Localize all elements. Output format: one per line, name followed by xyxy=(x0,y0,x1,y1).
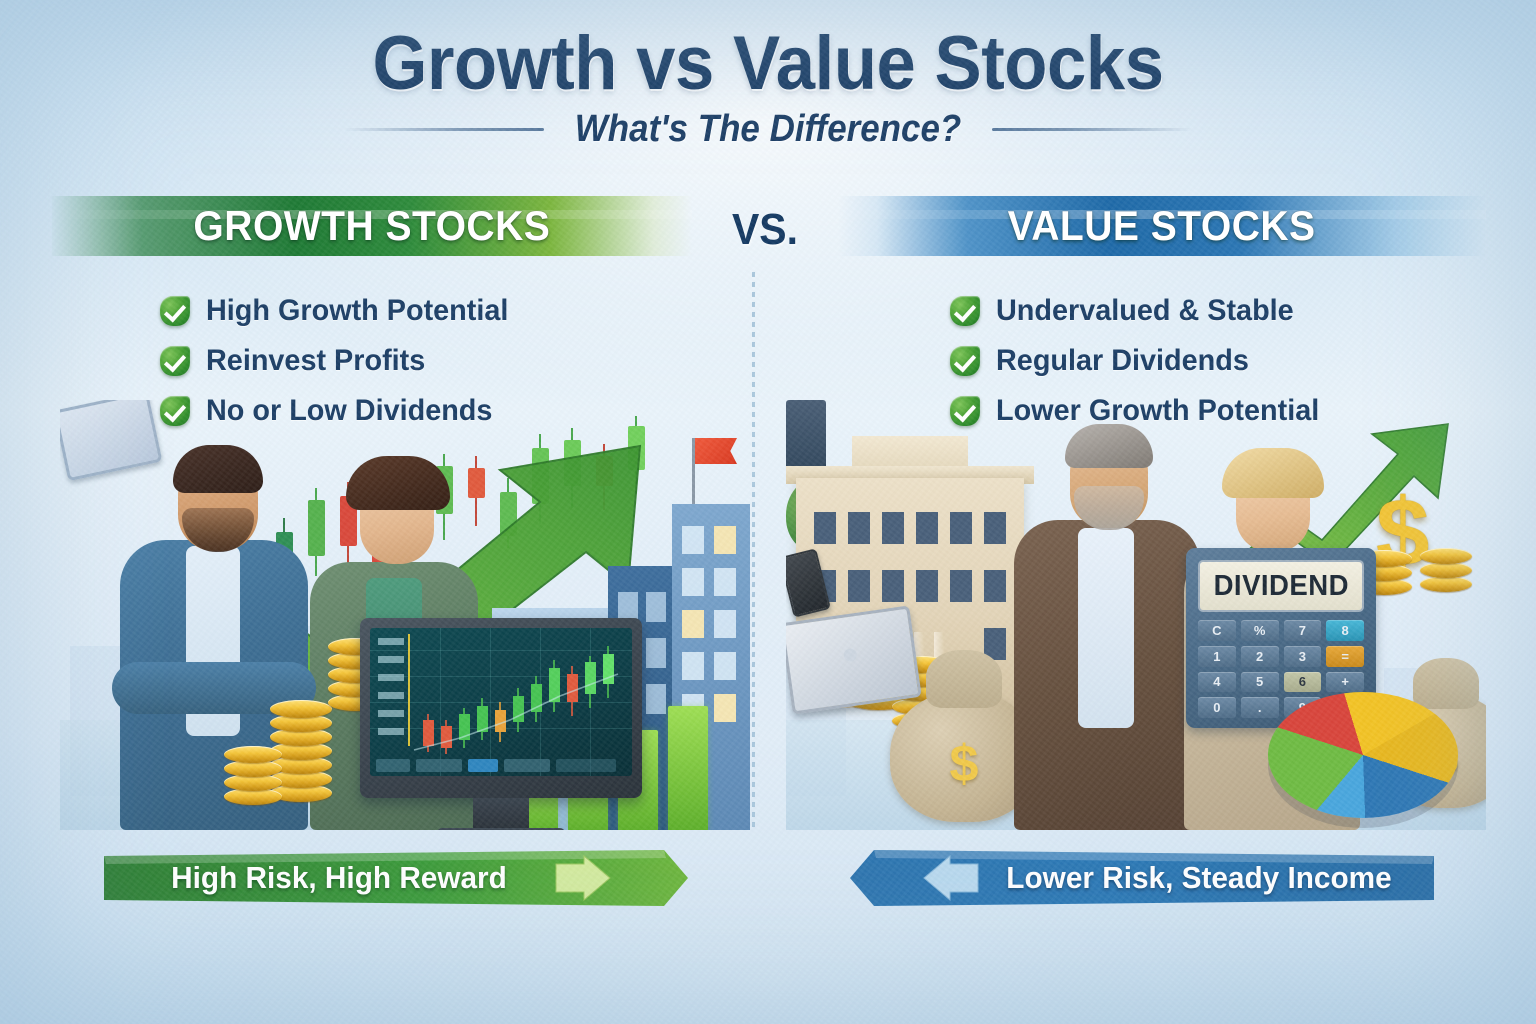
value-footer-banner: Lower Risk, Steady Income xyxy=(850,850,1434,906)
growth-banner-label: GROWTH STOCKS xyxy=(194,202,551,250)
calculator-key[interactable]: + xyxy=(1326,672,1364,693)
dividend-pie-chart xyxy=(1268,692,1458,818)
man-hair xyxy=(1065,424,1153,468)
list-item: Reinvest Profits xyxy=(160,336,521,385)
value-illustration: $ $ DIVIDEND xyxy=(786,400,1486,830)
monitor-stand xyxy=(473,798,529,830)
calculator-key[interactable]: 2 xyxy=(1241,646,1279,667)
subtitle-row: What's The Difference? xyxy=(0,108,1536,151)
man-hair xyxy=(173,445,263,493)
calculator-key[interactable]: = xyxy=(1326,646,1364,667)
page-title: Growth vs Value Stocks xyxy=(54,20,1482,107)
header: Growth vs Value Stocks What's The Differ… xyxy=(0,0,1536,175)
green-check-icon xyxy=(160,296,190,326)
calculator-key[interactable]: 6 xyxy=(1284,672,1322,693)
value-footer-label: Lower Risk, Steady Income xyxy=(973,850,1424,906)
growth-footer-label: High Risk, High Reward xyxy=(113,850,564,906)
calculator-key[interactable]: 0 xyxy=(1198,697,1236,718)
green-check-icon xyxy=(950,346,980,376)
calculator-key[interactable]: 8 xyxy=(1326,620,1364,641)
infographic-canvas: Growth vs Value Stocks What's The Differ… xyxy=(0,0,1536,1024)
calculator-key[interactable]: 5 xyxy=(1241,672,1279,693)
subtitle-rule-left xyxy=(344,128,544,131)
panel-divider xyxy=(752,272,755,828)
money-bag-neck xyxy=(926,650,1003,708)
subtitle-rule-right xyxy=(992,128,1192,131)
list-item: Regular Dividends xyxy=(950,336,1333,385)
woman-hair-front xyxy=(1222,448,1324,498)
vs-label: VS. xyxy=(697,205,833,255)
bullet-label: Reinvest Profits xyxy=(206,344,425,378)
laptop-device xyxy=(786,605,922,714)
list-item: Undervalued & Stable xyxy=(950,286,1333,335)
bullet-label: High Growth Potential xyxy=(206,294,508,328)
calculator-key[interactable]: 1 xyxy=(1198,646,1236,667)
calculator-key[interactable]: 4 xyxy=(1198,672,1236,693)
pie-chart-top xyxy=(1268,692,1458,818)
calculator-key[interactable]: % xyxy=(1241,620,1279,641)
calculator-key[interactable]: C xyxy=(1198,620,1236,641)
calculator-display: DIVIDEND xyxy=(1198,560,1364,612)
green-check-icon xyxy=(160,346,190,376)
monitor-screen xyxy=(370,628,632,776)
page-subtitle: What's The Difference? xyxy=(575,108,961,151)
calculator-display-text: DIVIDEND xyxy=(1213,570,1348,603)
growth-footer-banner: High Risk, High Reward xyxy=(104,850,688,906)
value-banner-label: VALUE STOCKS xyxy=(1008,202,1316,250)
flag-pole xyxy=(692,438,695,504)
woman-hair-front xyxy=(346,456,450,510)
value-banner: VALUE STOCKS xyxy=(838,196,1486,256)
list-item: High Growth Potential xyxy=(160,286,521,335)
green-check-icon xyxy=(950,296,980,326)
calculator-key[interactable]: 3 xyxy=(1284,646,1322,667)
monitor-base xyxy=(437,828,565,830)
bullet-label: Undervalued & Stable xyxy=(996,294,1294,328)
calculator-key[interactable]: 7 xyxy=(1284,620,1322,641)
growth-illustration xyxy=(60,400,750,830)
bullet-label: Regular Dividends xyxy=(996,344,1249,378)
man-shirt xyxy=(1078,528,1134,728)
trading-monitor xyxy=(360,618,642,798)
growth-banner: GROWTH STOCKS xyxy=(52,196,692,256)
laptop-logo xyxy=(843,648,858,663)
